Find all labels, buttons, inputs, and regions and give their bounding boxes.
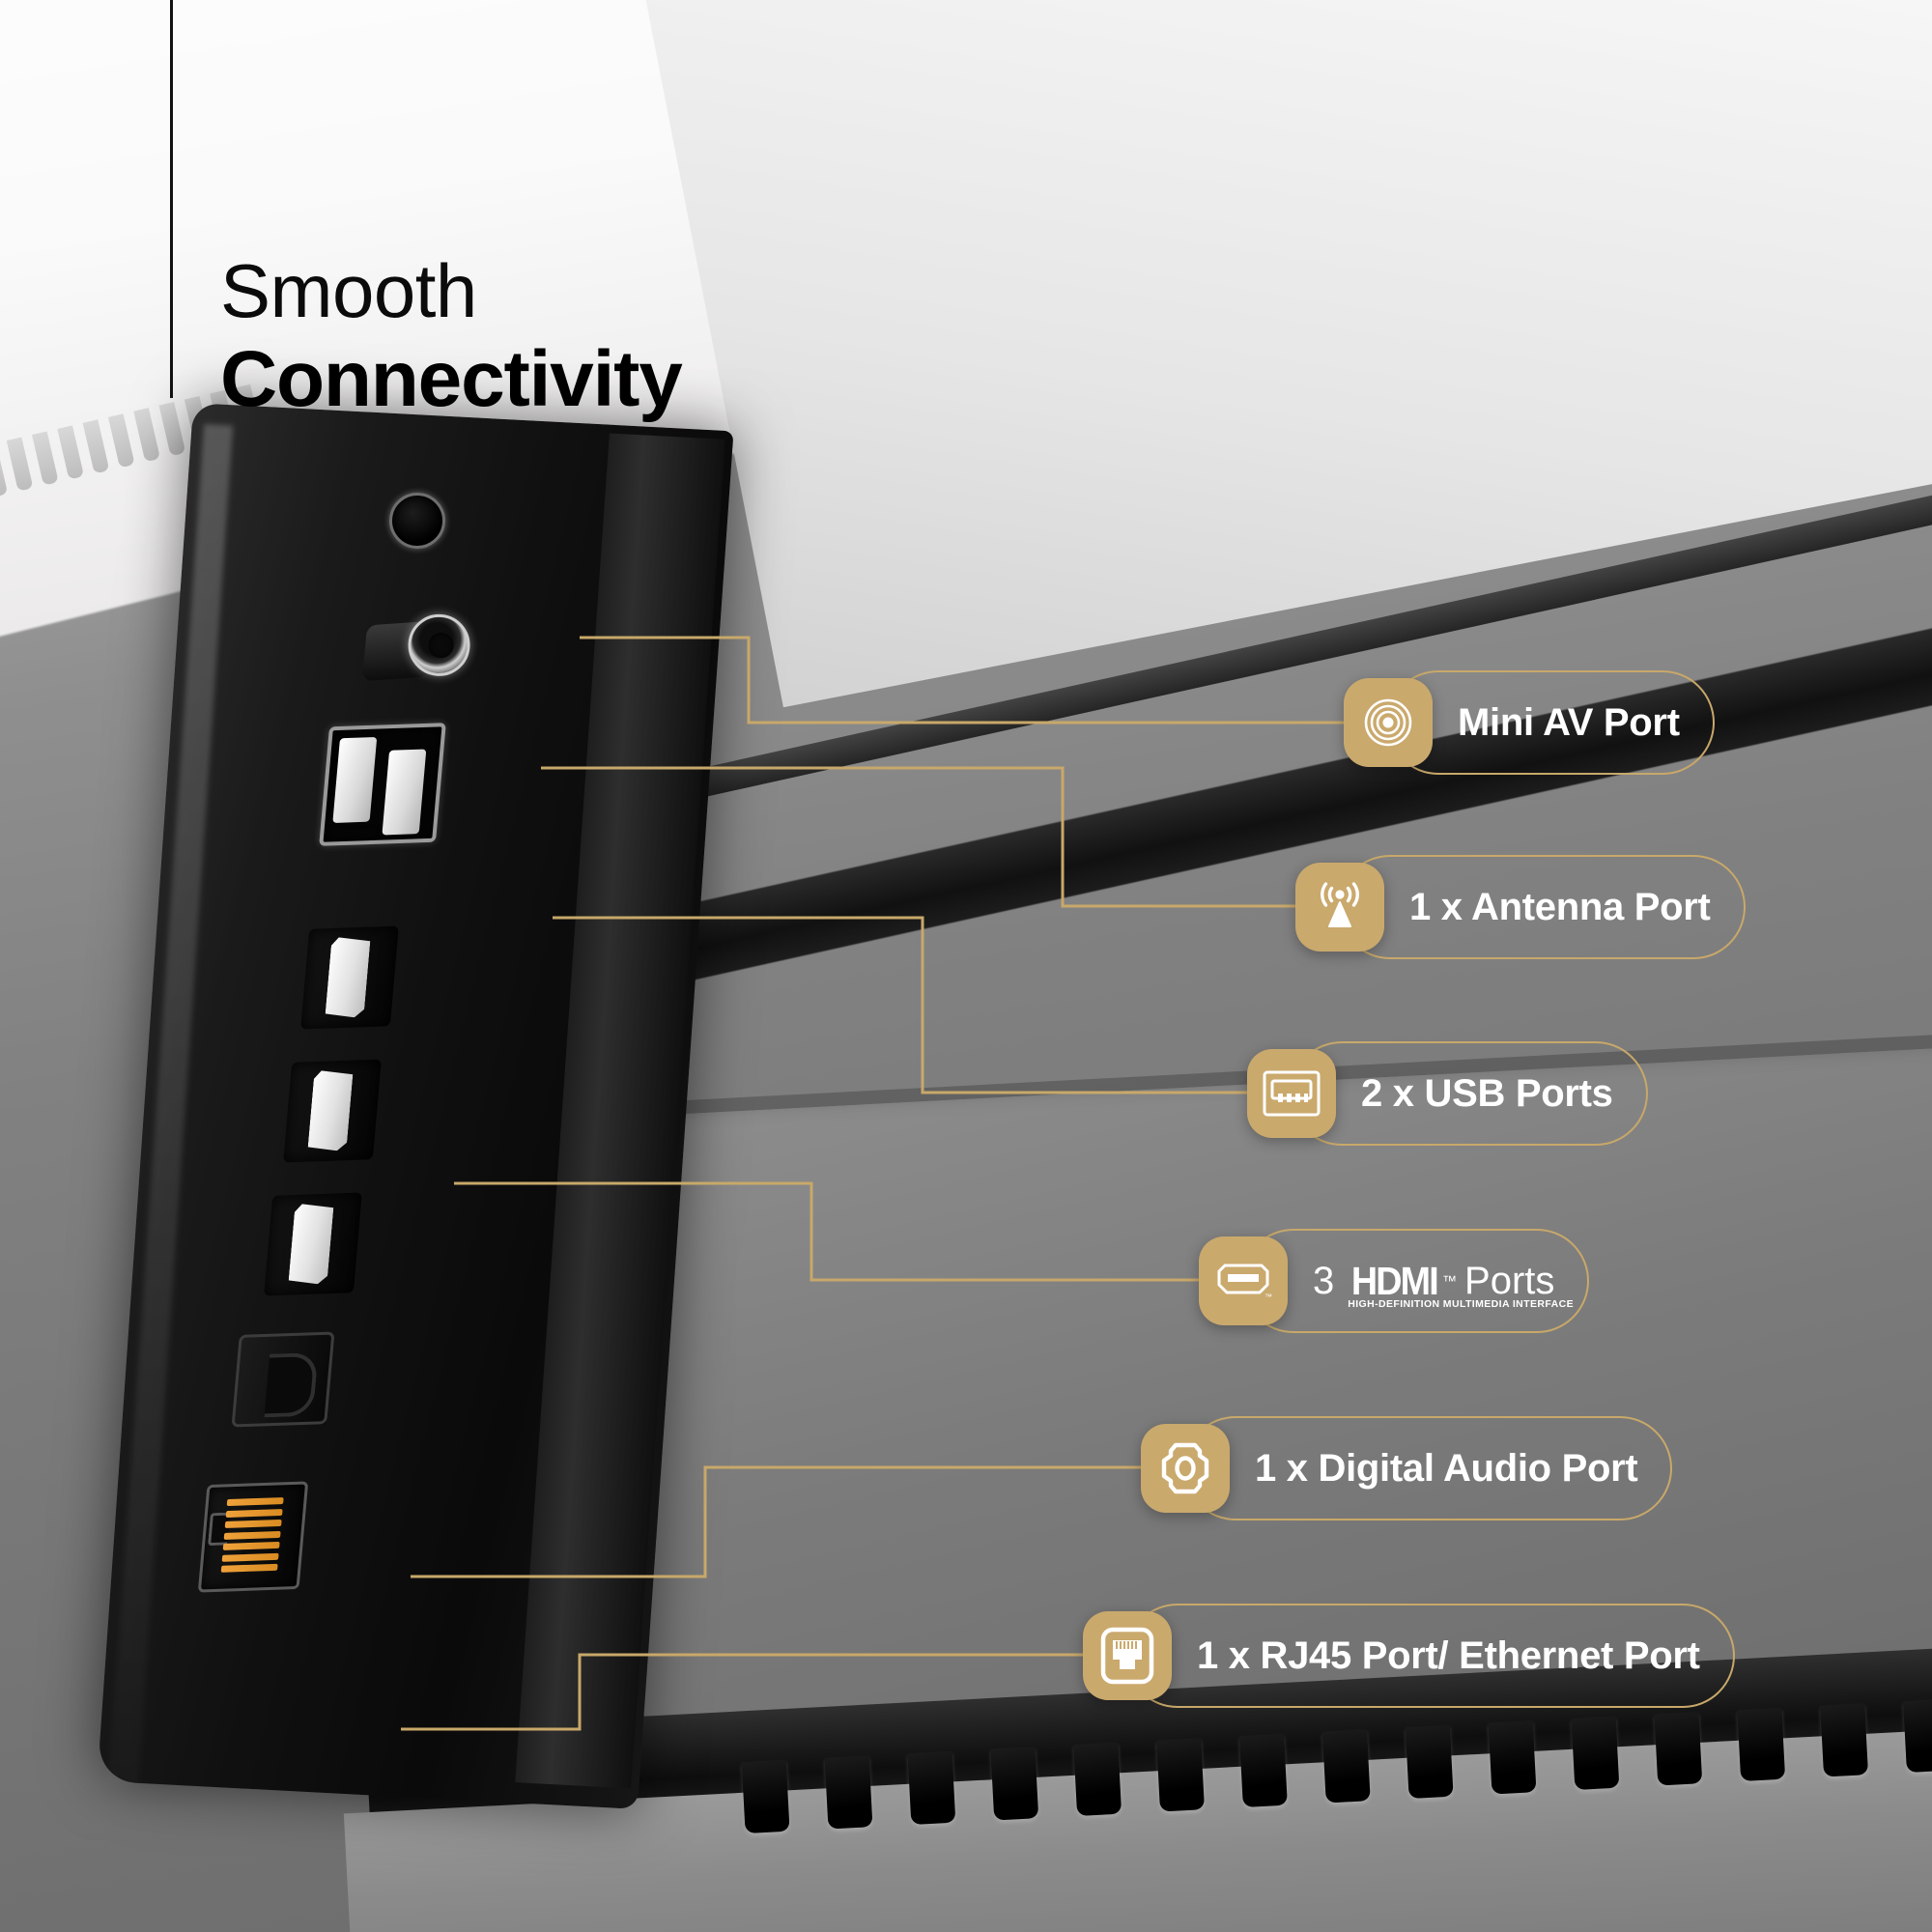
product-feature-graphic: Smooth Connectivity Mini AV Port bbox=[0, 0, 1932, 1932]
usb-jack-pair bbox=[320, 720, 445, 849]
hdmi-jack-1 bbox=[301, 923, 399, 1032]
hdmi-count: 3 bbox=[1313, 1260, 1334, 1303]
rj45-jack bbox=[198, 1479, 307, 1596]
mini-av-port-icon bbox=[1344, 678, 1433, 767]
hdmi-ports-word: Ports bbox=[1464, 1260, 1554, 1303]
hdmi-jack-2-mouth bbox=[307, 1069, 354, 1151]
hdmi-jack-1-mouth bbox=[325, 936, 371, 1018]
callout-hdmi-label: 3 HDMI HIGH-DEFINITION MULTIMEDIA INTERF… bbox=[1313, 1259, 1554, 1304]
hdmi-jack-3-mouth bbox=[288, 1203, 334, 1285]
hdmi-port-icon: ™ bbox=[1199, 1236, 1288, 1325]
callout-mini-av-label: Mini AV Port bbox=[1458, 701, 1680, 745]
mini-av-jack-ring bbox=[387, 491, 448, 552]
callout-hdmi[interactable]: ™ 3 HDMI HIGH-DEFINITION MULTIMEDIA INTE… bbox=[1241, 1229, 1589, 1333]
svg-text:™: ™ bbox=[1264, 1293, 1272, 1300]
optical-jack bbox=[232, 1329, 334, 1430]
callout-rj45-label: 1 x RJ45 Port/ Ethernet Port bbox=[1197, 1634, 1700, 1678]
rj45-port-icon bbox=[1083, 1611, 1172, 1700]
usb-port-icon bbox=[1247, 1049, 1336, 1138]
page-title-line-2: Connectivity bbox=[220, 334, 682, 425]
hdmi-jack-3 bbox=[265, 1190, 362, 1298]
antenna-jack bbox=[361, 604, 474, 696]
mini-av-jack bbox=[387, 491, 448, 552]
hdmi-jack-2 bbox=[284, 1057, 382, 1165]
callout-mini-av[interactable]: Mini AV Port bbox=[1386, 670, 1715, 775]
page-title: Smooth Connectivity bbox=[220, 253, 682, 425]
rj45-jack-pins bbox=[221, 1497, 284, 1573]
optical-audio-port-icon bbox=[1141, 1424, 1230, 1513]
callout-usb-label: 2 x USB Ports bbox=[1361, 1072, 1613, 1116]
callout-antenna-label: 1 x Antenna Port bbox=[1409, 886, 1711, 929]
hdmi-logotype-subtext: HIGH-DEFINITION MULTIMEDIA INTERFACE bbox=[1348, 1298, 1441, 1310]
page-title-line-1: Smooth bbox=[220, 253, 682, 328]
hdmi-logotype-word: HDMI bbox=[1351, 1259, 1437, 1304]
antenna-port-icon bbox=[1295, 863, 1384, 952]
port-plate bbox=[145, 415, 763, 1806]
callout-rj45[interactable]: 1 x RJ45 Port/ Ethernet Port bbox=[1125, 1604, 1735, 1708]
callout-digital-audio[interactable]: 1 x Digital Audio Port bbox=[1183, 1416, 1672, 1520]
hdmi-logotype: HDMI HIGH-DEFINITION MULTIMEDIA INTERFAC… bbox=[1348, 1259, 1441, 1304]
heading-accent-rule bbox=[170, 0, 173, 398]
callout-antenna[interactable]: 1 x Antenna Port bbox=[1338, 855, 1746, 959]
hdmi-trademark-symbol: ™ bbox=[1442, 1273, 1457, 1290]
usb-jack-1 bbox=[332, 737, 377, 823]
callout-digital-audio-label: 1 x Digital Audio Port bbox=[1255, 1447, 1637, 1491]
optical-jack-housing bbox=[231, 1331, 334, 1427]
callout-usb[interactable]: 2 x USB Ports bbox=[1290, 1041, 1648, 1146]
usb-jack-2 bbox=[382, 749, 426, 835]
